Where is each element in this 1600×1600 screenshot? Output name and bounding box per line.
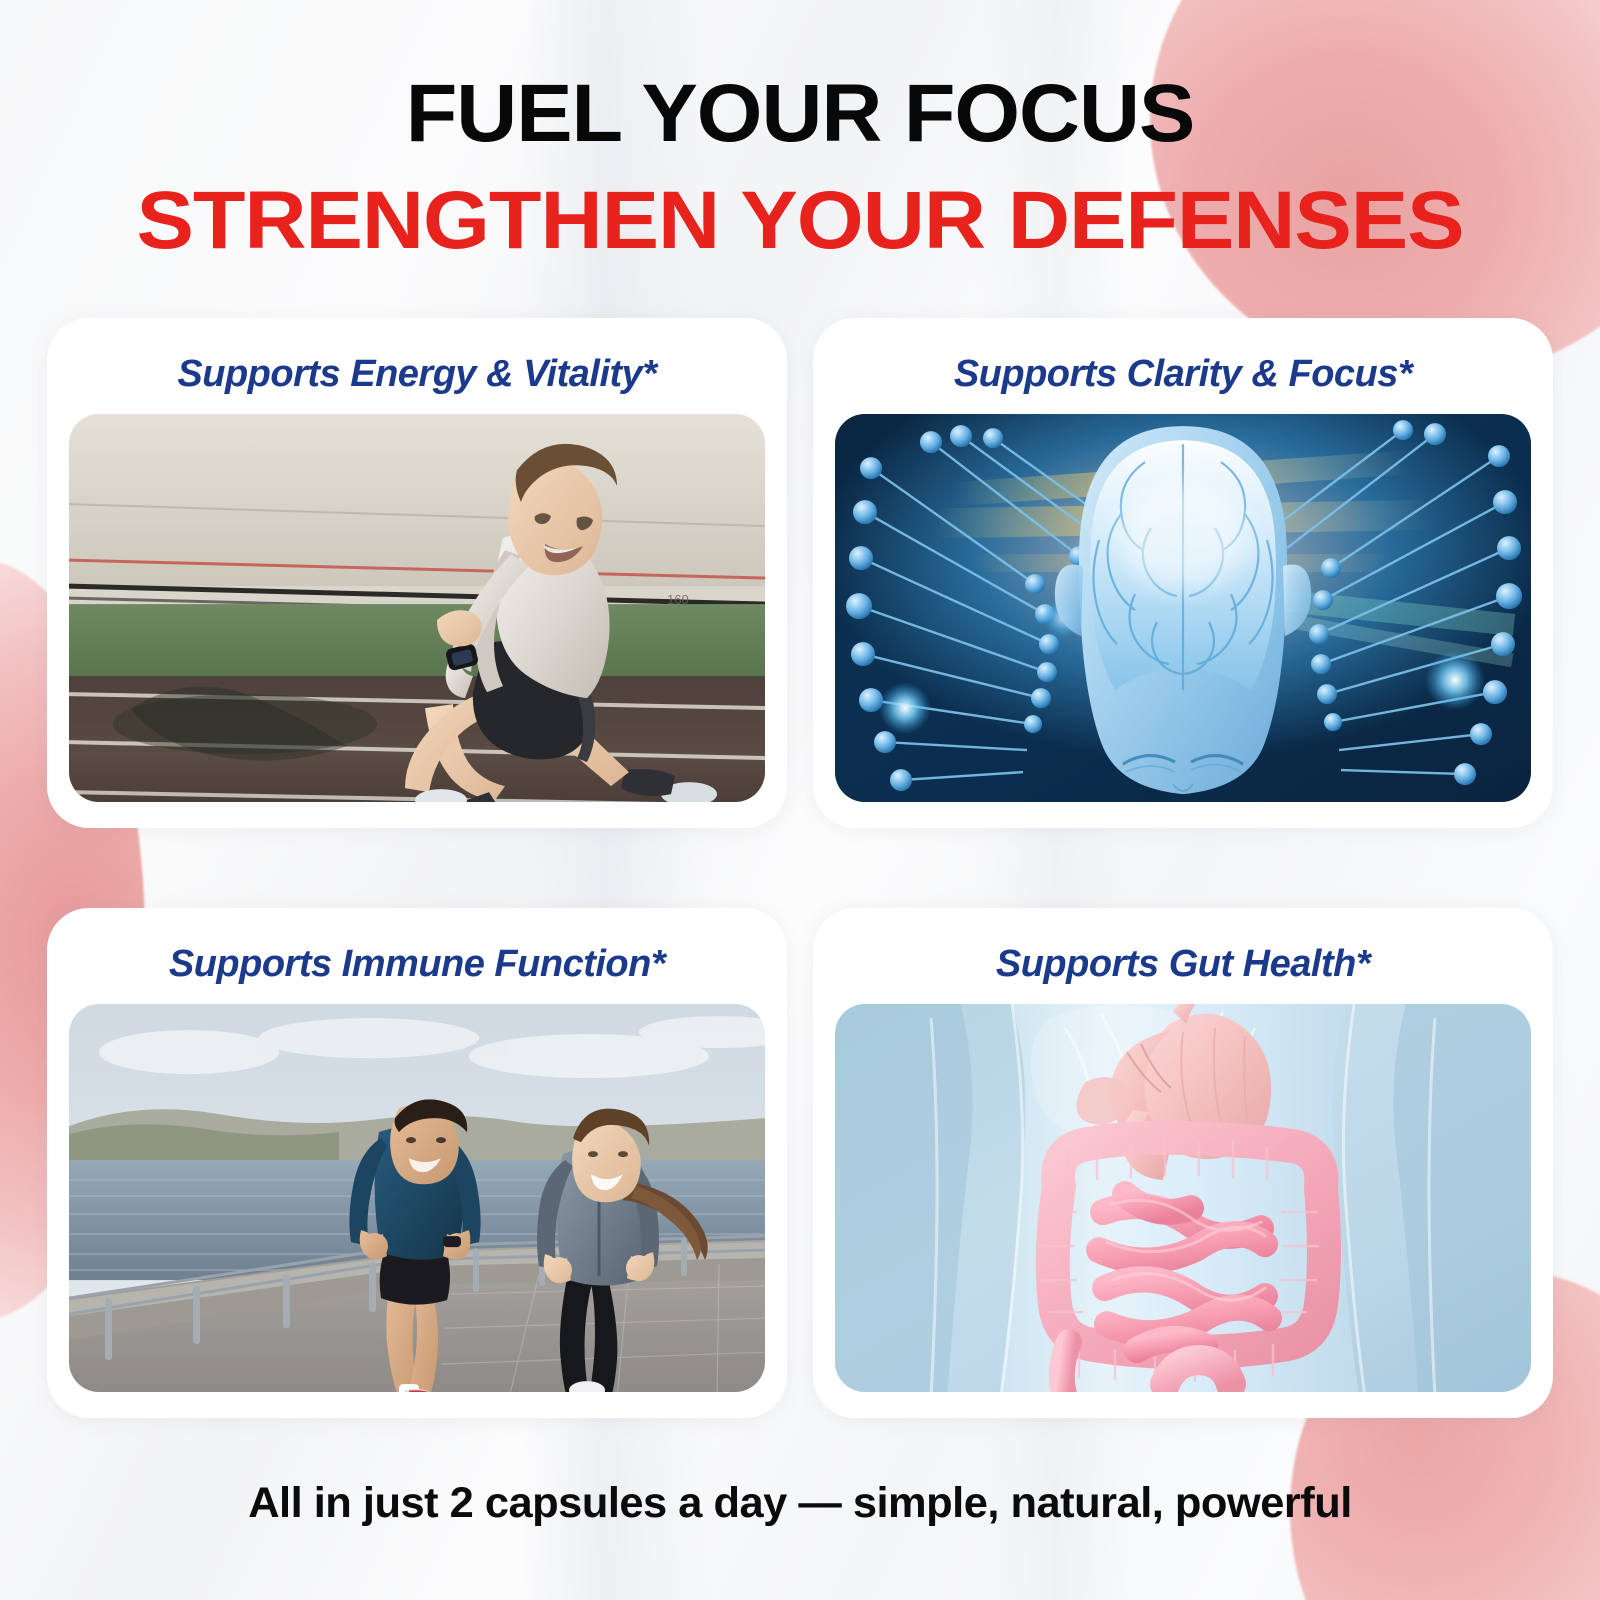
headline-secondary: STRENGTHEN YOUR DEFENSES — [0, 175, 1600, 267]
footer-block: All in just 2 capsules a day — simple, n… — [0, 1479, 1600, 1528]
benefit-card-clarity-focus: Supports Clarity & Focus* — [813, 318, 1553, 828]
runner-lunging-on-track-photo: 160 — [69, 414, 765, 802]
footer-tagline: All in just 2 capsules a day — simple, n… — [0, 1479, 1600, 1528]
benefit-card-energy-vitality: Supports Energy & Vitality* — [47, 318, 787, 828]
benefit-card-immune-function: Supports Immune Function* — [47, 908, 787, 1418]
benefit-card-title: Supports Clarity & Focus* — [835, 340, 1531, 414]
digestive-system-anatomy-illustration — [835, 1004, 1531, 1392]
benefit-card-grid: Supports Energy & Vitality* — [47, 318, 1553, 1428]
headline-primary: FUEL YOUR FOCUS — [0, 70, 1600, 159]
svg-text:160: 160 — [667, 592, 689, 607]
benefit-card-title: Supports Energy & Vitality* — [69, 340, 765, 414]
headline-block: FUEL YOUR FOCUS STRENGTHEN YOUR DEFENSES — [0, 70, 1600, 266]
benefit-card-title: Supports Immune Function* — [69, 930, 765, 1004]
glowing-brain-dna-illustration — [835, 414, 1531, 802]
poster-canvas: FUEL YOUR FOCUS STRENGTHEN YOUR DEFENSES… — [0, 0, 1600, 1600]
couple-jogging-waterfront-photo — [69, 1004, 765, 1392]
benefit-card-gut-health: Supports Gut Health* — [813, 908, 1553, 1418]
benefit-card-title: Supports Gut Health* — [835, 930, 1531, 1004]
